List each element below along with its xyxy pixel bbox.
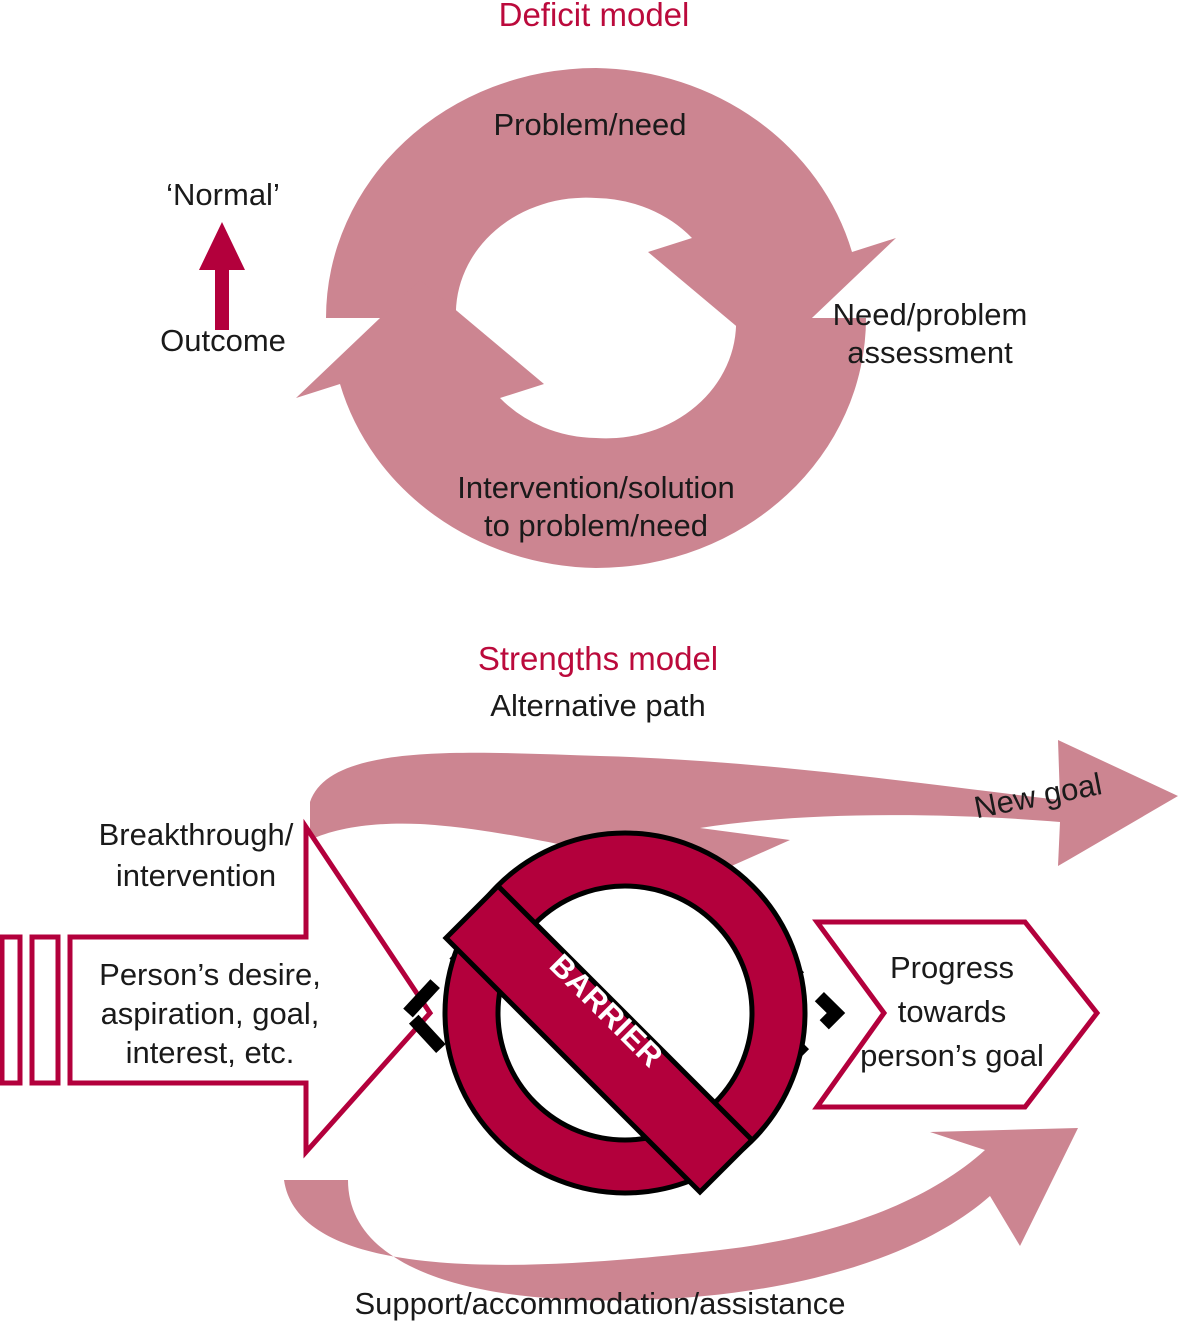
- progress-label-line3: person’s goal: [860, 1038, 1044, 1073]
- deficit-label-assessment-line1: Need/problem: [833, 297, 1028, 332]
- deficit-label-intervention-line1: Intervention/solution: [457, 470, 734, 505]
- arrow-tick-bar-2: [32, 937, 58, 1083]
- diagram-root: Deficit model Problem/need Need/problem …: [0, 0, 1189, 1328]
- strengths-model-title: Strengths model: [478, 640, 718, 677]
- deficit-label-problem-need: Problem/need: [493, 107, 686, 142]
- progress-label-line1: Progress: [890, 950, 1014, 985]
- persons-desire-line2: aspiration, goal,: [101, 996, 320, 1031]
- deficit-label-assessment-line2: assessment: [847, 335, 1013, 370]
- breakthrough-label-line1: Breakthrough/: [99, 817, 294, 852]
- support-label: Support/accommodation/assistance: [354, 1286, 845, 1321]
- diagram-canvas: Deficit model Problem/need Need/problem …: [0, 0, 1189, 1328]
- outcome-arrow-top-label: ‘Normal’: [166, 177, 280, 212]
- persons-desire-line1: Person’s desire,: [99, 957, 321, 992]
- no-entry-icon: BARRIER: [445, 833, 805, 1193]
- arrow-tick-bar-1: [2, 937, 20, 1083]
- progress-label-line2: towards: [898, 994, 1007, 1029]
- outcome-arrow-bottom-label: Outcome: [160, 323, 286, 358]
- strengths-model-subtitle: Alternative path: [490, 688, 705, 723]
- deficit-label-intervention-line2: to problem/need: [484, 508, 708, 543]
- breakthrough-label-line2: intervention: [116, 858, 276, 893]
- up-arrow-icon: [199, 222, 245, 330]
- persons-desire-line3: interest, etc.: [126, 1035, 295, 1070]
- deficit-model-title: Deficit model: [499, 0, 690, 33]
